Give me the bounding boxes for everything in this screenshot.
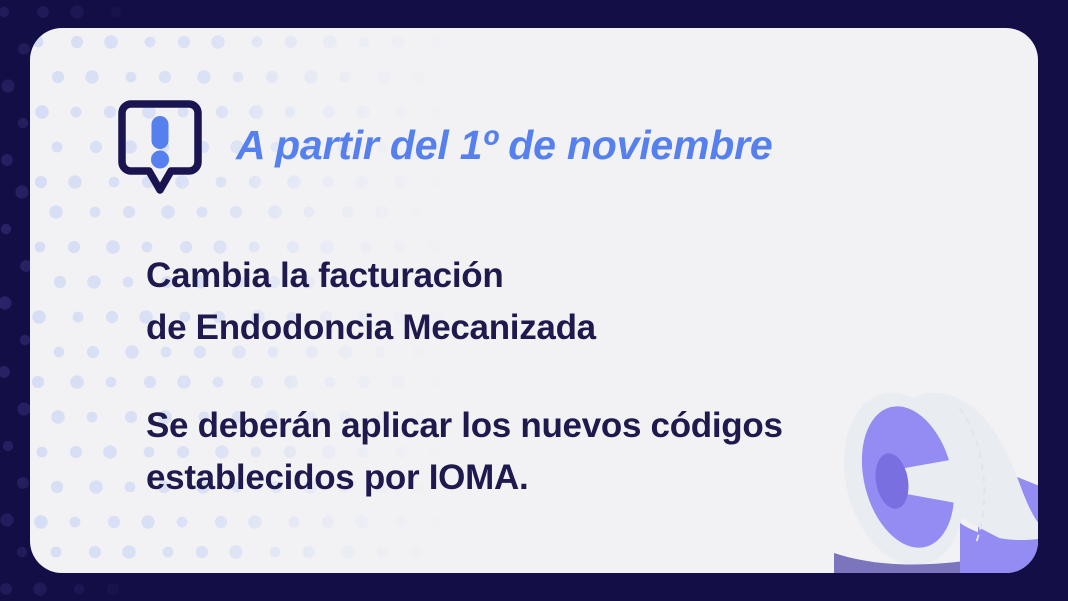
announcement-banner: A partir del 1º de noviembre Cambia la f… [0, 0, 1068, 601]
paragraph-new-codes: Se deberán aplicar los nuevos códigos es… [146, 400, 986, 504]
exclamation-speech-bubble-icon [118, 100, 202, 196]
page-title: A partir del 1º de noviembre [236, 125, 772, 172]
paragraph-2-line-2: establecidos por IOMA. [146, 452, 986, 504]
content-card: A partir del 1º de noviembre Cambia la f… [30, 28, 1038, 573]
body-copy: Cambia la facturación de Endodoncia Meca… [146, 250, 986, 504]
paragraph-2-line-1: Se deberán aplicar los nuevos códigos [146, 400, 986, 452]
paragraph-1-line-1: Cambia la facturación [146, 250, 986, 302]
headline-row: A partir del 1º de noviembre [118, 100, 772, 196]
paragraph-1-line-2: de Endodoncia Mecanizada [146, 302, 986, 354]
paragraph-billing-change: Cambia la facturación de Endodoncia Meca… [146, 250, 986, 354]
